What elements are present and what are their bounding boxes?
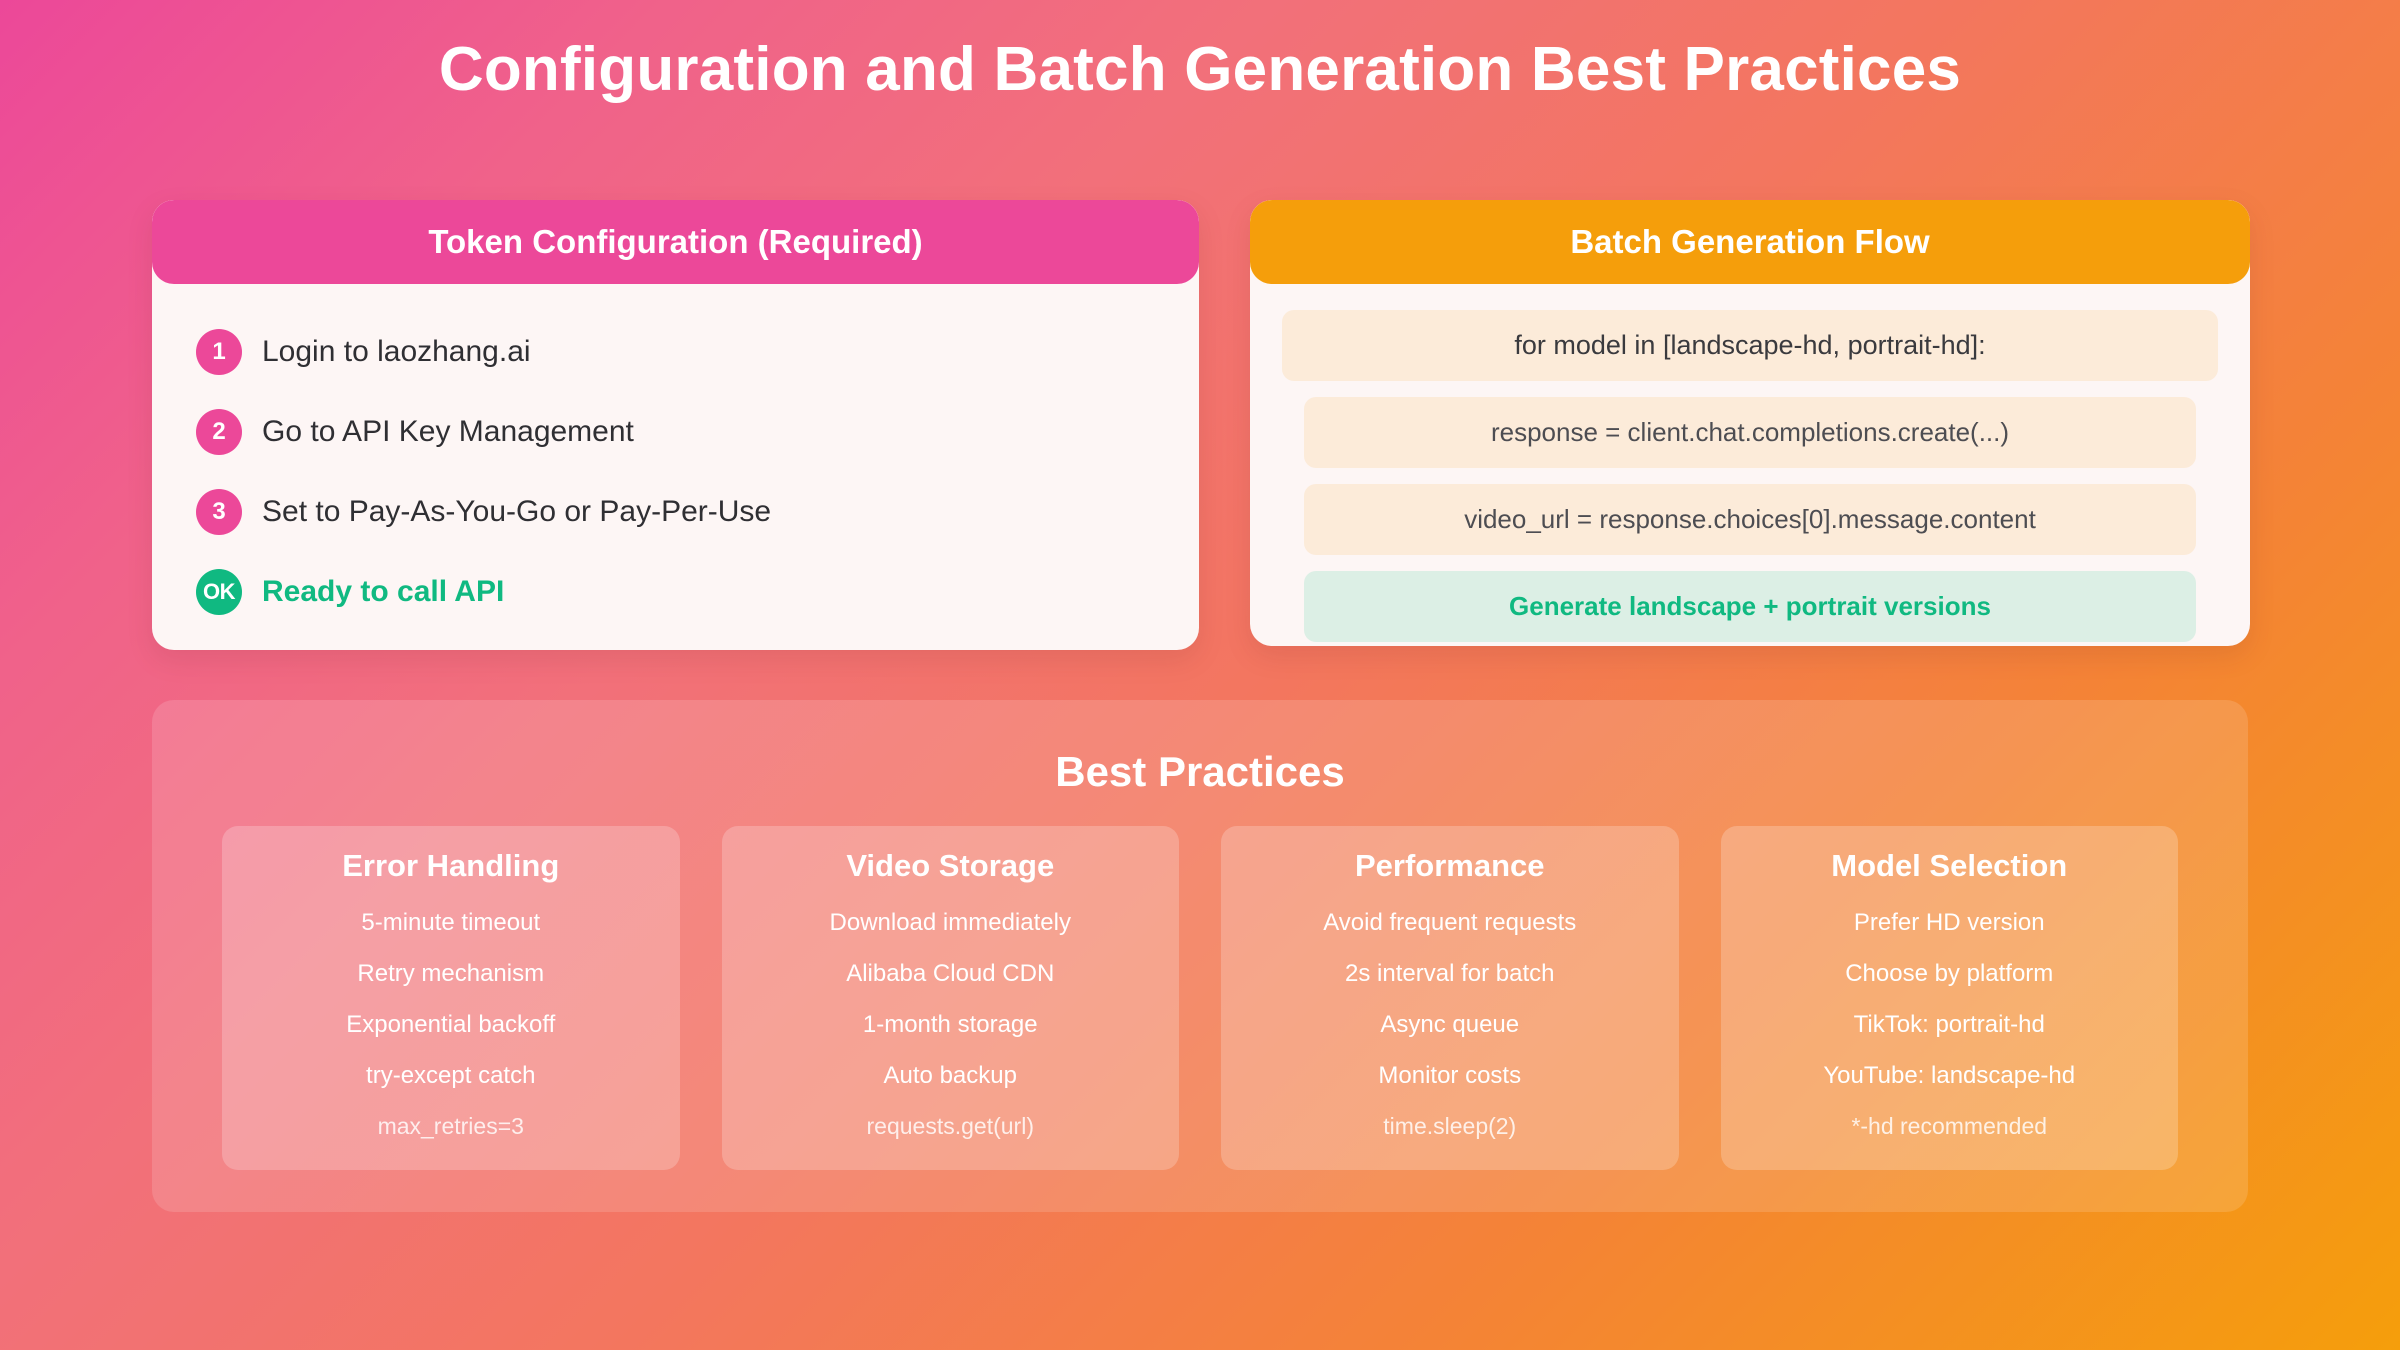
practice-item: 2s interval for batch (1235, 959, 1665, 989)
practice-item: 5-minute timeout (236, 908, 666, 938)
practice-heading: Performance (1235, 848, 1665, 884)
step-label-done: Ready to call API (262, 575, 504, 609)
practice-item: Alibaba Cloud CDN (736, 959, 1166, 989)
practice-item: Exponential backoff (236, 1010, 666, 1040)
practice-item: Async queue (1235, 1010, 1665, 1040)
step-label-2: Go to API Key Management (262, 415, 634, 449)
practice-item: YouTube: landscape-hd (1735, 1061, 2165, 1091)
practice-code: time.sleep(2) (1235, 1113, 1665, 1140)
token-card-body: 1 Login to laozhang.ai 2 Go to API Key M… (152, 284, 1199, 650)
step-row-done: OK Ready to call API (196, 552, 1155, 632)
step-badge-2: 2 (196, 409, 242, 455)
practice-code: max_retries=3 (236, 1113, 666, 1140)
batch-card-body: for model in [landscape-hd, portrait-hd]… (1250, 284, 2250, 646)
batch-generation-card: Batch Generation Flow for model in [land… (1250, 200, 2250, 646)
practice-item: Auto backup (736, 1061, 1166, 1091)
practice-item: try-except catch (236, 1061, 666, 1091)
practice-item: TikTok: portrait-hd (1735, 1010, 2165, 1040)
practice-item: Avoid frequent requests (1235, 908, 1665, 938)
step-badge-3: 3 (196, 489, 242, 535)
practice-item: 1-month storage (736, 1010, 1166, 1040)
step-label-1: Login to laozhang.ai (262, 335, 531, 369)
flow-row-result: Generate landscape + portrait versions (1304, 571, 2196, 642)
practice-item: Monitor costs (1235, 1061, 1665, 1091)
practice-code: requests.get(url) (736, 1113, 1166, 1140)
flow-row-response: video_url = response.choices[0].message.… (1304, 484, 2196, 555)
practice-column-performance: Performance Avoid frequent requests 2s i… (1221, 826, 1679, 1170)
infographic-page: Configuration and Batch Generation Best … (0, 0, 2400, 1350)
step-row: 2 Go to API Key Management (196, 392, 1155, 472)
practice-item: Retry mechanism (236, 959, 666, 989)
practice-column-model-selection: Model Selection Prefer HD version Choose… (1721, 826, 2179, 1170)
practice-item: Prefer HD version (1735, 908, 2165, 938)
flow-row-request: response = client.chat.completions.creat… (1304, 397, 2196, 468)
practice-item: Choose by platform (1735, 959, 2165, 989)
token-card-header: Token Configuration (Required) (152, 200, 1199, 284)
practice-column-video-storage: Video Storage Download immediately Aliba… (722, 826, 1180, 1170)
page-title: Configuration and Batch Generation Best … (0, 34, 2400, 105)
practice-column-error-handling: Error Handling 5-minute timeout Retry me… (222, 826, 680, 1170)
step-row: 3 Set to Pay-As-You-Go or Pay-Per-Use (196, 472, 1155, 552)
step-label-3: Set to Pay-As-You-Go or Pay-Per-Use (262, 495, 771, 529)
practice-item: Download immediately (736, 908, 1166, 938)
best-practices-grid: Error Handling 5-minute timeout Retry me… (222, 826, 2178, 1170)
batch-card-header: Batch Generation Flow (1250, 200, 2250, 284)
best-practices-panel: Best Practices Error Handling 5-minute t… (152, 700, 2248, 1212)
flow-row-loop: for model in [landscape-hd, portrait-hd]… (1282, 310, 2218, 381)
practice-heading: Model Selection (1735, 848, 2165, 884)
practice-heading: Error Handling (236, 848, 666, 884)
token-configuration-card: Token Configuration (Required) 1 Login t… (152, 200, 1199, 650)
practice-heading: Video Storage (736, 848, 1166, 884)
best-practices-title: Best Practices (222, 748, 2178, 796)
step-row: 1 Login to laozhang.ai (196, 312, 1155, 392)
step-badge-1: 1 (196, 329, 242, 375)
ok-badge-icon: OK (196, 569, 242, 615)
practice-code: *-hd recommended (1735, 1113, 2165, 1140)
